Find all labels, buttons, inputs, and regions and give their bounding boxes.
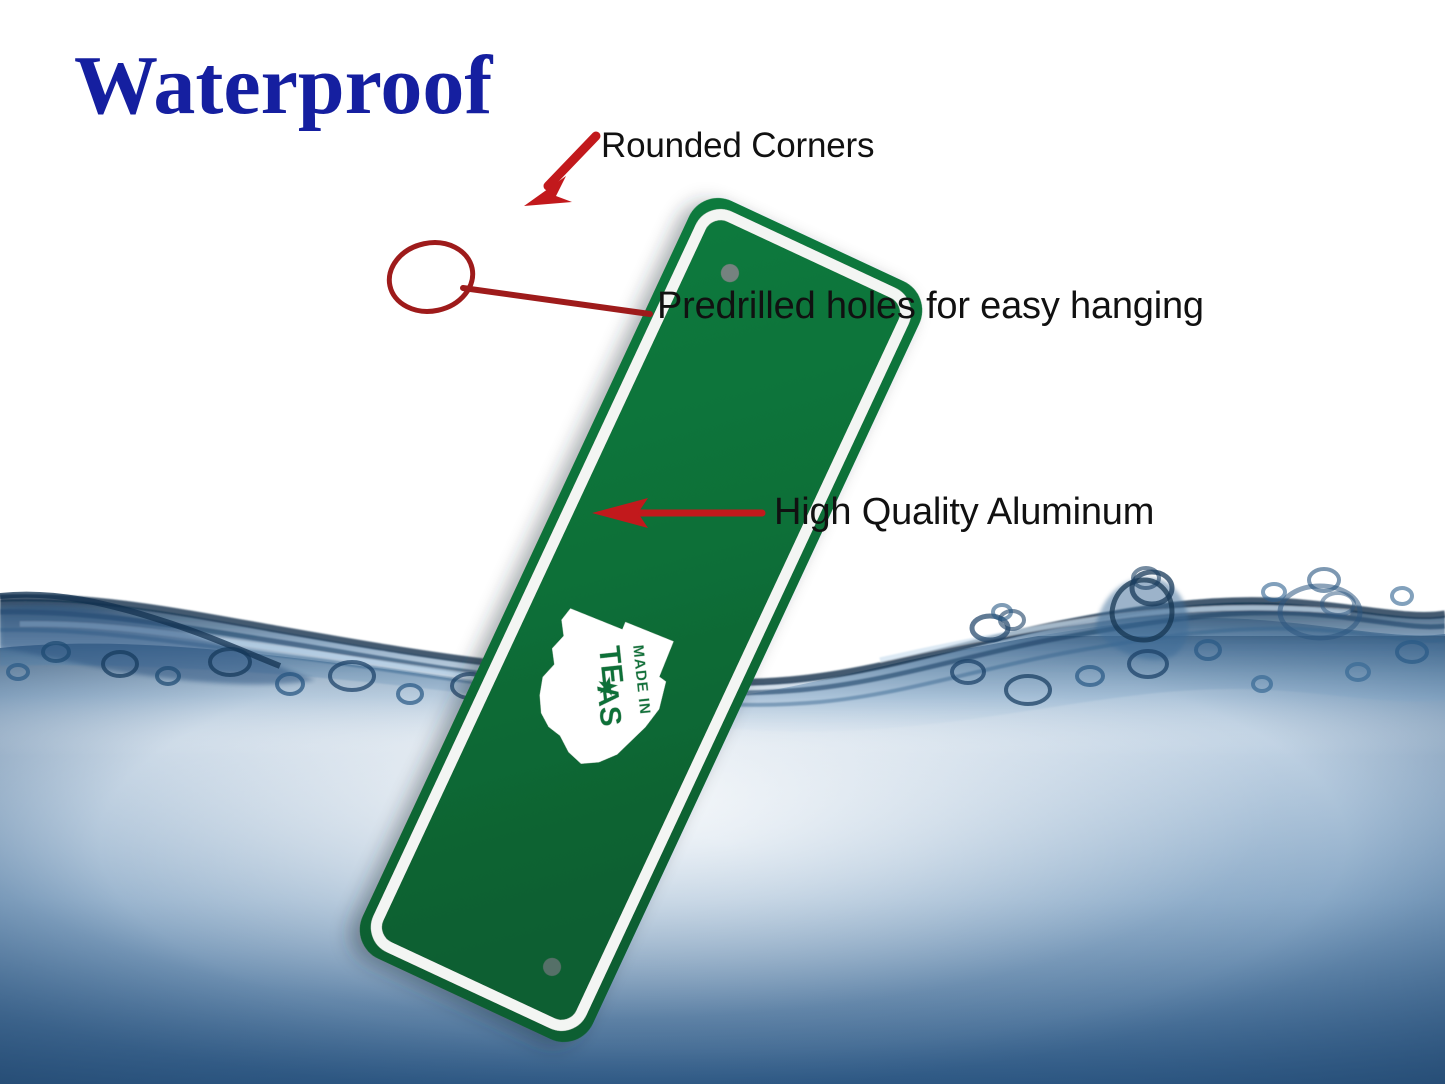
annotation-label-rounded-corners: Rounded Corners (601, 126, 874, 166)
annotation-label-predrilled-holes: Predrilled holes for easy hanging (657, 285, 1204, 328)
page-title: Waterproof (74, 44, 492, 128)
annotation-label-high-quality-aluminum: High Quality Aluminum (774, 491, 1154, 534)
infographic-canvas: MADE IN TE AS ★ (0, 0, 1445, 1084)
